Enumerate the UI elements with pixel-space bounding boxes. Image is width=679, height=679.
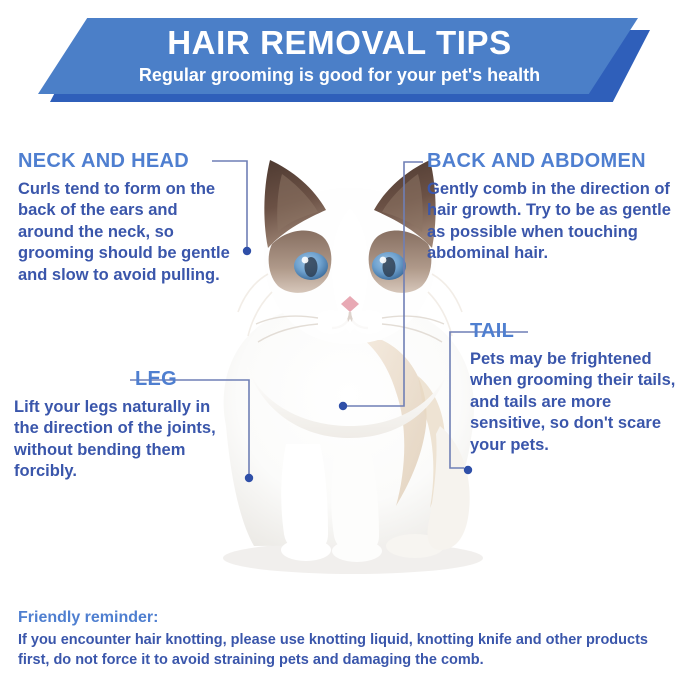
annotation-block-tail: TAIL Pets may be frightened when groomin… (470, 320, 678, 456)
cat-paw-right (332, 540, 382, 562)
footer-reminder: Friendly reminder: If you encounter hair… (18, 608, 668, 670)
annotation-heading-back-and-abdomen: BACK AND ABDOMEN (427, 150, 677, 172)
cat-front-leg-left (281, 444, 328, 552)
annotation-block-neck-and-head: NECK AND HEAD Curls tend to form on the … (18, 150, 233, 286)
header-banner: HAIR REMOVAL TIPS Regular grooming is go… (0, 8, 679, 108)
annotation-body-neck-and-head: Curls tend to form on the back of the ea… (18, 179, 233, 286)
annotation-block-back-and-abdomen: BACK AND ABDOMEN Gently comb in the dire… (427, 150, 677, 265)
cat-eye-highlight-right (380, 257, 387, 264)
annotation-heading-tail: TAIL (470, 320, 678, 342)
annotation-heading-leg: LEG (76, 368, 236, 390)
annotation-heading-neck-and-head: NECK AND HEAD (18, 150, 233, 172)
footer-body: If you encounter hair knotting, please u… (18, 630, 668, 670)
annotation-body-leg: Lift your legs naturally in the directio… (14, 397, 229, 483)
footer-title: Friendly reminder: (18, 608, 668, 627)
cat-whisker-pad-left (314, 310, 348, 334)
banner-text-group: HAIR REMOVAL TIPS Regular grooming is go… (0, 18, 679, 94)
annotation-block-leg: LEG Lift your legs naturally in the dire… (14, 368, 229, 483)
page-title: HAIR REMOVAL TIPS (167, 26, 512, 61)
annotation-body-tail: Pets may be frightened when grooming the… (470, 349, 678, 456)
page-subtitle: Regular grooming is good for your pet's … (139, 66, 540, 86)
cat-eye-highlight-left (302, 257, 309, 264)
annotation-body-back-and-abdomen: Gently comb in the direction of hair gro… (427, 179, 677, 265)
infographic-page: HAIR REMOVAL TIPS Regular grooming is go… (0, 0, 679, 679)
cat-paw-left (281, 539, 331, 561)
cat-front-leg-right (331, 448, 379, 553)
cat-whisker-pad-right (352, 310, 386, 334)
